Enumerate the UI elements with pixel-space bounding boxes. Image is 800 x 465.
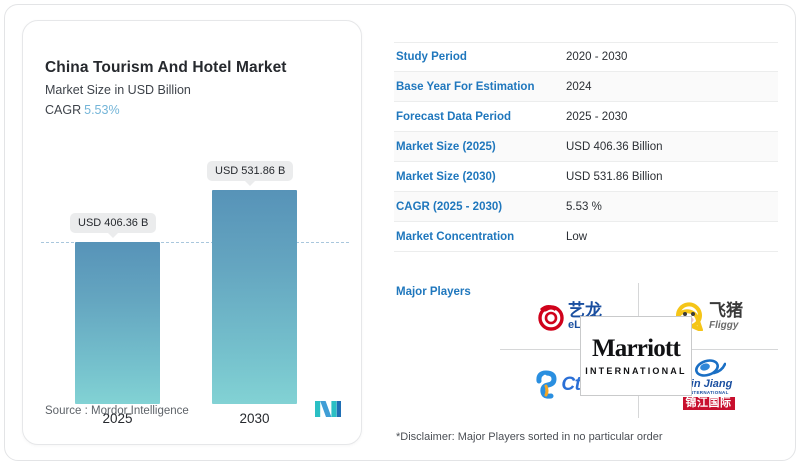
major-players-label: Major Players bbox=[396, 286, 471, 298]
fliggy-cn-text: 飞猪 bbox=[709, 302, 743, 319]
bar-label-2025: USD 406.36 B bbox=[70, 213, 156, 233]
bar-label-2030: USD 531.86 B bbox=[207, 161, 293, 181]
row-label: Base Year For Estimation bbox=[394, 81, 566, 93]
row-label: CAGR (2025 - 2030) bbox=[394, 201, 566, 213]
fliggy-en-text: Fliggy bbox=[709, 321, 743, 331]
infographic-root: China Tourism And Hotel Market Market Si… bbox=[0, 0, 800, 465]
row-label: Market Size (2025) bbox=[394, 141, 566, 153]
chart-cagr-label: CAGR bbox=[45, 103, 81, 117]
table-row: Market Size (2025) USD 406.36 Billion bbox=[394, 132, 778, 162]
row-value: 2024 bbox=[566, 81, 778, 93]
marriott-wordmark: Marriott bbox=[592, 336, 680, 361]
bar-2025[interactable] bbox=[75, 242, 160, 404]
source-row: Source : Mordor Intelligence bbox=[45, 399, 341, 422]
major-players-grid: 艺龙 eLong 飞猪 bbox=[500, 283, 778, 418]
player-cell-marriott[interactable]: Marriott INTERNATIONAL bbox=[580, 316, 692, 396]
table-row: Forecast Data Period 2025 - 2030 bbox=[394, 102, 778, 132]
table-row: Study Period 2020 - 2030 bbox=[394, 42, 778, 72]
row-value: 2020 - 2030 bbox=[566, 51, 778, 63]
bar-chart-plot: USD 406.36 B USD 531.86 B 2025 2030 bbox=[23, 141, 362, 401]
source-label: Source : Mordor Intelligence bbox=[45, 405, 189, 417]
info-table: Study Period 2020 - 2030 Base Year For E… bbox=[394, 42, 778, 252]
row-label: Forecast Data Period bbox=[394, 111, 566, 123]
table-row: CAGR (2025 - 2030) 5.53 % bbox=[394, 192, 778, 222]
chart-cagr-value: 5.53% bbox=[84, 103, 119, 117]
row-label: Study Period bbox=[394, 51, 566, 63]
row-value: USD 406.36 Billion bbox=[566, 141, 778, 153]
row-value: 2025 - 2030 bbox=[566, 111, 778, 123]
chart-cagr: CAGR5.53% bbox=[45, 103, 120, 117]
disclaimer-text: *Disclaimer: Major Players sorted in no … bbox=[396, 431, 663, 443]
major-players-section: Major Players 艺龙 eLong bbox=[394, 283, 778, 423]
row-label: Market Concentration bbox=[394, 231, 566, 243]
marriott-subtext: INTERNATIONAL bbox=[585, 366, 686, 376]
row-value: 5.53 % bbox=[566, 201, 778, 213]
table-row: Market Concentration Low bbox=[394, 222, 778, 252]
chart-title: China Tourism And Hotel Market bbox=[45, 59, 287, 77]
row-value: Low bbox=[566, 231, 778, 243]
table-row: Base Year For Estimation 2024 bbox=[394, 72, 778, 102]
table-row: Market Size (2030) USD 531.86 Billion bbox=[394, 162, 778, 192]
row-label: Market Size (2030) bbox=[394, 171, 566, 183]
row-value: USD 531.86 Billion bbox=[566, 171, 778, 183]
jinjiang-sub-text: INTERNATIONAL bbox=[688, 391, 728, 396]
jinjiang-cn-text: 锦江国际 bbox=[683, 397, 735, 410]
mordor-intelligence-logo bbox=[315, 399, 341, 422]
chart-subtitle: Market Size in USD Billion bbox=[45, 83, 191, 97]
bar-2030[interactable] bbox=[212, 190, 297, 404]
chart-card: China Tourism And Hotel Market Market Si… bbox=[22, 20, 362, 445]
